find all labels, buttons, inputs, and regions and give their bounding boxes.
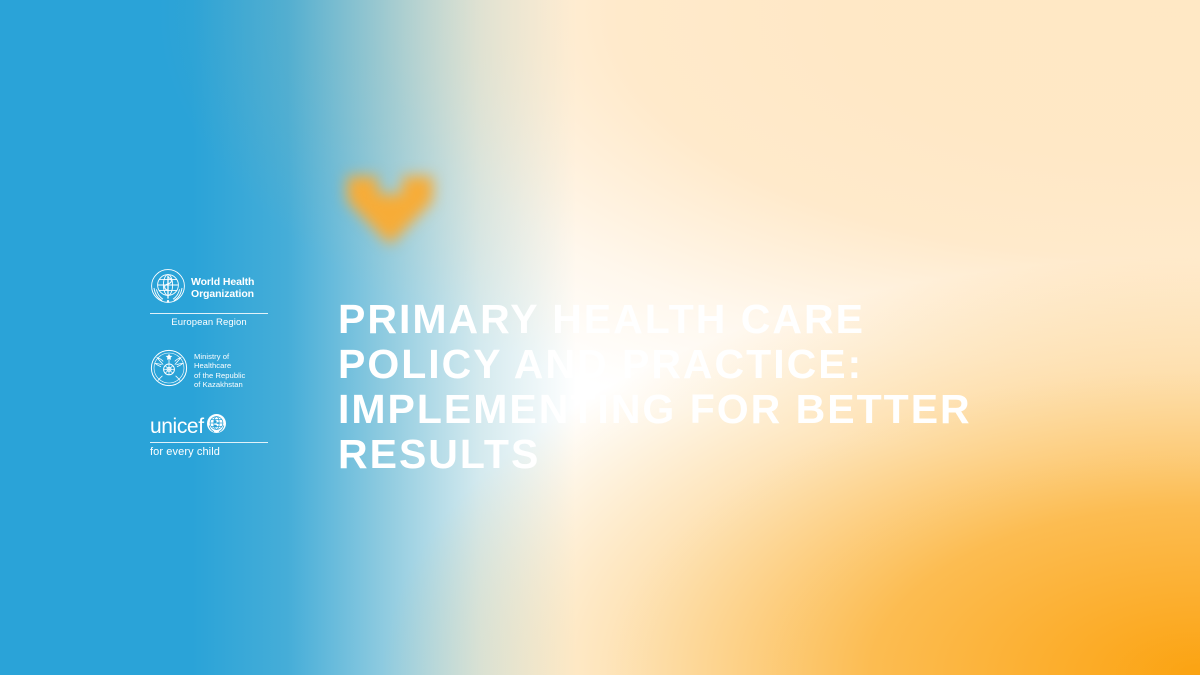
- who-emblem-icon: [150, 268, 186, 309]
- unicef-tagline: for every child: [150, 446, 268, 459]
- logo-unicef: unicef: [150, 414, 268, 459]
- title-line-3: IMPLEMENTING FOR BETTER: [338, 387, 1098, 432]
- title-line-4: RESULTS: [338, 432, 1098, 477]
- title-line-2: POLICY AND PRACTICE:: [338, 342, 1098, 387]
- kazakhstan-emblem-icon: [150, 349, 188, 392]
- title-line-1: PRIMARY HEALTH CARE: [338, 297, 1098, 342]
- title-slide: World Health Organization European Regio…: [0, 0, 1200, 675]
- partner-logo-column: World Health Organization European Regio…: [150, 268, 268, 459]
- who-region-label: European Region: [150, 317, 268, 328]
- logo-ministry-healthcare-kazakhstan: Ministry of Healthcare of the Republic o…: [150, 349, 268, 392]
- logo-who: World Health Organization European Regio…: [150, 268, 268, 328]
- heart-icon: [330, 150, 450, 265]
- page-title: PRIMARY HEALTH CARE POLICY AND PRACTICE:…: [338, 297, 1098, 477]
- unicef-wordmark: unicef: [150, 416, 204, 437]
- who-divider: [150, 313, 268, 314]
- unicef-emblem-icon: [207, 414, 226, 438]
- ministry-wordmark: Ministry of Healthcare of the Republic o…: [194, 352, 245, 388]
- unicef-divider: [150, 442, 268, 443]
- who-wordmark: World Health Organization: [191, 277, 254, 299]
